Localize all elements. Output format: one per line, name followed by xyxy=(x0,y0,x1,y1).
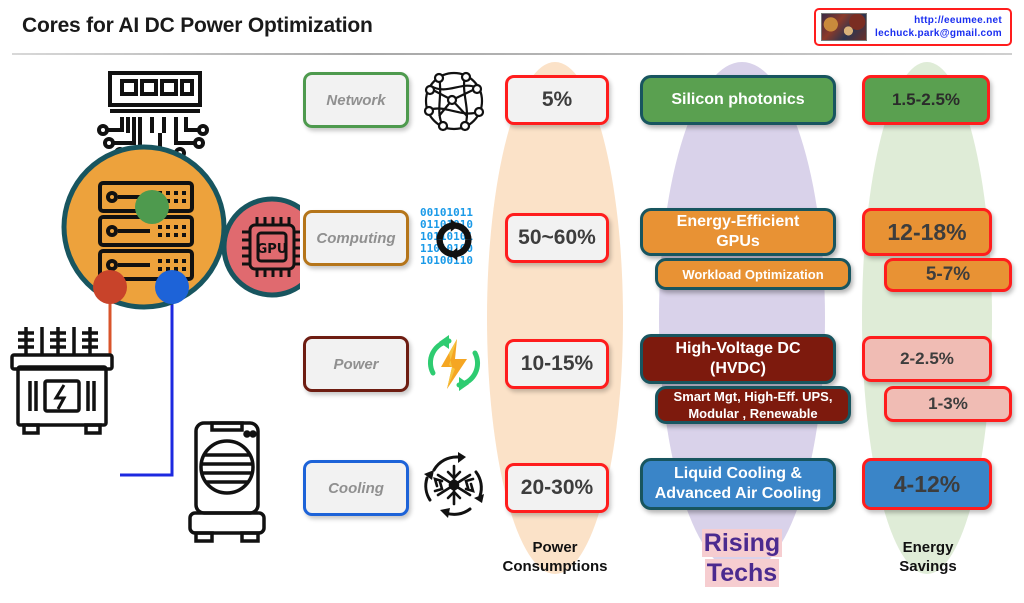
row-power: Power 10-15% High-Voltage DC (HVDC) xyxy=(0,334,1024,396)
column-label-rising-line2: Techs xyxy=(705,559,779,587)
category-pill-computing[interactable]: Computing xyxy=(303,210,409,266)
svg-text:10100110: 10100110 xyxy=(420,254,473,267)
column-label-rising-line1: Rising xyxy=(702,529,782,557)
snowflake-cycle-icon xyxy=(415,454,493,516)
tech-subbox-power-line2: Modular , Renewable xyxy=(688,406,817,421)
savings-badge-computing-1[interactable]: 12-18% xyxy=(862,208,992,256)
tech-subbox-computing[interactable]: Workload Optimization xyxy=(655,258,851,290)
contact-url[interactable]: http://eeumee.net xyxy=(867,14,1002,27)
profile-thumbnail xyxy=(821,13,867,41)
tech-box-power[interactable]: High-Voltage DC (HVDC) xyxy=(640,334,836,384)
tech-box-cooling-line2: Advanced Air Cooling xyxy=(655,485,822,502)
tech-box-computing-line1: Energy-Efficient xyxy=(677,213,800,230)
renewable-energy-bolt-icon xyxy=(415,332,493,394)
category-pill-network[interactable]: Network xyxy=(303,72,409,128)
consumption-badge-power[interactable]: 10-15% xyxy=(505,339,609,389)
column-label-energy-savings: Energy Savings xyxy=(860,538,996,576)
savings-badge-network-1[interactable]: 1.5-2.5% xyxy=(862,75,990,125)
tech-box-computing-line2: GPUs xyxy=(716,233,760,250)
contact-box: http://eeumee.net lechuck.park@gmail.com xyxy=(814,8,1012,46)
column-label-savings-line1: Energy xyxy=(860,538,996,557)
contact-text: http://eeumee.net lechuck.park@gmail.com xyxy=(867,14,1005,40)
tech-subbox-power[interactable]: Smart Mgt, High-Eff. UPS, Modular , Rene… xyxy=(655,386,851,424)
savings-badge-computing-2[interactable]: 5-7% xyxy=(884,258,1012,292)
tech-box-cooling-line1: Liquid Cooling & xyxy=(674,465,802,482)
tech-box-network[interactable]: Silicon photonics xyxy=(640,75,836,125)
column-label-power-consumptions: Power Consumptions xyxy=(472,538,638,576)
category-pill-power[interactable]: Power xyxy=(303,336,409,392)
row-network: Network 5% Silicon photonics xyxy=(0,72,1024,132)
column-label-power-line2: Consumptions xyxy=(472,557,638,576)
cooling-node-dot xyxy=(155,270,189,304)
consumption-badge-network[interactable]: 5% xyxy=(505,75,609,125)
network-mesh-icon xyxy=(415,70,493,132)
savings-badge-cooling-1[interactable]: 4-12% xyxy=(862,458,992,510)
savings-badge-power-1[interactable]: 2-2.5% xyxy=(862,336,992,382)
tech-box-power-line1: High-Voltage DC xyxy=(675,340,800,357)
consumption-badge-computing[interactable]: 50~60% xyxy=(505,213,609,263)
column-label-rising-techs: Rising Techs xyxy=(672,528,812,588)
power-node-dot xyxy=(93,270,127,304)
tech-subbox-power-line1: Smart Mgt, High-Eff. UPS, xyxy=(674,389,833,404)
tech-box-cooling[interactable]: Liquid Cooling & Advanced Air Cooling xyxy=(640,458,836,510)
binary-refresh-icon: 00101011 01101010 10110101 11010100 1010… xyxy=(415,206,493,268)
column-label-savings-line2: Savings xyxy=(860,557,996,576)
contact-email[interactable]: lechuck.park@gmail.com xyxy=(867,27,1002,40)
category-pill-cooling[interactable]: Cooling xyxy=(303,460,409,516)
row-computing: Computing 00101011 01101010 10110101 110… xyxy=(0,208,1024,270)
slide-canvas: Cores for AI DC Power Optimization http:… xyxy=(0,0,1024,603)
consumption-badge-cooling[interactable]: 20-30% xyxy=(505,463,609,513)
tech-box-computing[interactable]: Energy-Efficient GPUs xyxy=(640,208,836,256)
savings-badge-power-2[interactable]: 1-3% xyxy=(884,386,1012,422)
row-cooling: Cooling xyxy=(0,458,1024,520)
tech-box-power-line2: (HVDC) xyxy=(710,360,766,377)
page-title: Cores for AI DC Power Optimization xyxy=(22,14,373,38)
column-label-power-line1: Power xyxy=(472,538,638,557)
